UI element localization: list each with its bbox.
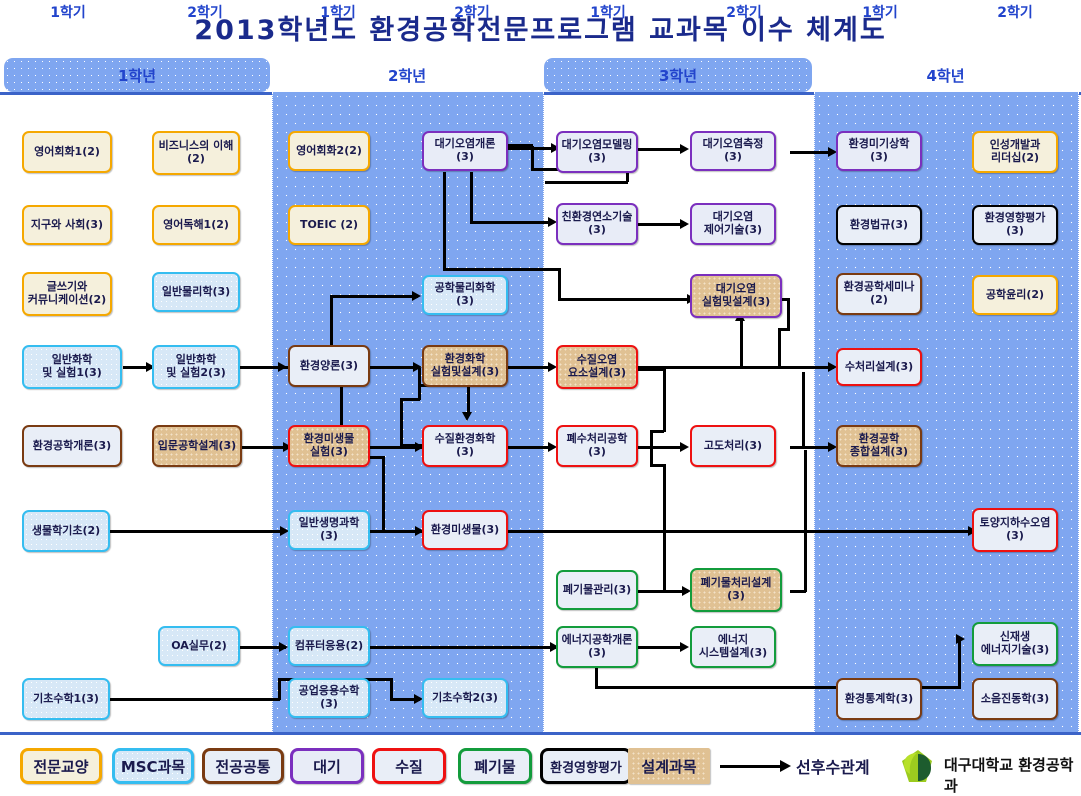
course-box[interactable]: 신재생에너지기술(3) [972,622,1058,666]
course-label: 공학물리화학(3) [426,282,504,307]
legend-item-common[interactable]: 전공공통 [202,748,284,784]
course-label: 일반생명과학(3) [292,517,366,542]
course-label: 대기오염모델링(3) [560,139,634,164]
course-label: 일반화학및 실험2(3) [156,354,236,379]
course-label: 환경공학세미나(2) [840,281,918,306]
course-box[interactable]: 비즈니스의 이해(2) [152,131,240,175]
course-label: 일반물리학(3) [156,286,236,299]
legend-item-air[interactable]: 대기 [290,748,364,784]
course-box[interactable]: 글쓰기와커뮤니케이션(2) [22,272,112,316]
course-box[interactable]: 수질환경화학(3) [422,425,508,467]
course-box[interactable]: 인성개발과리더십(2) [972,131,1058,173]
course-label: 생물학기초(2) [26,525,106,538]
course-label: 폐기물처리설계(3) [694,577,778,602]
course-box[interactable]: 폐기물처리설계(3) [690,568,782,612]
course-box[interactable]: 폐수처리공학(3) [556,425,638,467]
course-label: 영어회화1(2) [26,146,108,159]
course-box[interactable]: 공학윤리(2) [972,275,1058,315]
course-box[interactable]: 수처리설계(3) [836,348,922,386]
year-band-4: 4학년 [814,58,1077,92]
course-label: OA실무(2) [162,640,236,653]
semester-label-8: 2학기 [955,0,1075,26]
curriculum-flowchart: 2013학년도 환경공학전문프로그램 교과목 이수 체계도 1학년 2학년 3학… [0,0,1081,794]
course-box[interactable]: OA실무(2) [158,626,240,666]
course-box[interactable]: 환경양론(3) [288,345,370,387]
legend-arrow-line [720,765,782,768]
course-box[interactable]: 지구와 사회(3) [22,205,112,245]
semester-label-5: 1학기 [548,0,668,26]
year-band-2-label: 2학년 [388,65,426,86]
course-box[interactable]: 환경화학실험및설계(3) [422,345,508,387]
course-label: 기초수학1(3) [26,693,106,706]
course-label: 지구와 사회(3) [26,219,108,232]
course-box[interactable]: 토양지하수오염(3) [972,508,1058,552]
course-label: 환경미생물(3) [426,524,504,537]
course-label: 환경공학개론(3) [26,440,118,453]
course-label: 신재생에너지기술(3) [976,631,1054,656]
course-label: 환경통계학(3) [840,693,918,706]
legend-label: 설계과목 [641,756,696,777]
course-box[interactable]: 환경공학개론(3) [22,425,122,467]
course-label: 대기오염제어기술(3) [694,211,772,236]
legend-label: 전공공통 [215,756,270,777]
course-label: 수처리설계(3) [840,361,918,374]
course-label: 환경법규(3) [840,219,918,232]
course-box[interactable]: 공학물리화학(3) [422,275,508,315]
course-box[interactable]: 수질오염요소설계(3) [556,345,638,389]
course-label: 대기오염측정(3) [694,138,772,163]
course-box[interactable]: 영어회화2(2) [288,131,370,171]
course-label: 에너지공학개론(3) [560,634,634,659]
course-label: 영어회화2(2) [292,145,366,158]
course-box[interactable]: 환경미생물(3) [422,510,508,550]
course-label: 에너지시스템설계(3) [694,634,772,659]
semester-label-7: 1학기 [820,0,940,26]
course-box[interactable]: 생물학기초(2) [22,510,110,552]
course-box[interactable]: 친환경연소기술(3) [556,203,638,245]
course-label: 비즈니스의 이해(2) [156,140,236,165]
legend: 전문교양 MSC과목 전공공통 대기 수질 폐기물 환경영향평가 설계과목 선후… [0,738,1081,794]
course-label: 일반화학및 실험1(3) [26,354,118,379]
course-box[interactable]: 일반화학및 실험1(3) [22,345,122,389]
university-logo-icon [898,748,938,786]
semester-label-6: 2학기 [684,0,804,26]
legend-label: 수질 [395,756,423,777]
course-label: 친환경연소기술(3) [560,211,634,236]
course-box[interactable]: 환경미생물실험(3) [288,425,370,467]
course-box[interactable]: 에너지시스템설계(3) [690,626,776,668]
course-box[interactable]: 대기오염개론(3) [422,131,508,171]
course-label: 컴퓨터응용(2) [292,640,366,653]
course-box[interactable]: 일반생명과학(3) [288,510,370,550]
legend-label: 폐기물 [474,756,515,777]
course-box[interactable]: 기초수학1(3) [22,678,110,720]
course-box[interactable]: 환경통계학(3) [836,678,922,720]
course-box[interactable]: 대기오염제어기술(3) [690,203,776,245]
semester-label-4: 2학기 [412,0,532,26]
divider-bottom [0,732,1081,735]
course-box[interactable]: TOEIC (2) [288,205,370,245]
year-band-1: 1학년 [4,58,270,92]
course-label: 입문공학설계(3) [156,440,238,453]
course-box[interactable]: 공업응용수학(3) [288,678,370,718]
course-label: 환경미생물실험(3) [292,433,366,458]
course-box[interactable]: 대기오염모델링(3) [556,131,638,173]
course-label: TOEIC (2) [292,219,366,232]
course-label: 폐수처리공학(3) [560,433,634,458]
course-label: 대기오염개론(3) [426,138,504,163]
semester-label-2: 2학기 [145,0,265,26]
course-box[interactable]: 영어독해1(2) [152,205,240,245]
legend-arrow-head [780,760,791,772]
course-label: 고도처리(3) [694,440,772,453]
year-band-2: 2학년 [272,58,542,92]
course-label: 기초수학2(3) [426,692,504,705]
legend-label: 전문교양 [33,756,88,777]
course-label: 영어독해1(2) [156,219,236,232]
course-box[interactable]: 환경영향평가(3) [972,205,1058,245]
course-label: 수질환경화학(3) [426,433,504,458]
course-label: 인성개발과리더십(2) [976,139,1054,164]
course-box[interactable]: 영어회화1(2) [22,131,112,173]
course-box[interactable]: 소음진동학(3) [972,678,1058,720]
legend-label: MSC과목 [121,756,185,777]
course-box[interactable]: 일반물리학(3) [152,272,240,312]
course-box[interactable]: 대기오염실험및설계(3) [690,274,782,318]
course-box[interactable]: 환경미기상학(3) [836,131,922,171]
year-band-3: 3학년 [544,58,812,92]
legend-item-design[interactable]: 설계과목 [628,748,710,784]
course-label: 토양지하수오염(3) [976,517,1054,542]
course-label: 환경양론(3) [292,360,366,373]
course-label: 폐기물관리(3) [560,584,634,597]
course-box[interactable]: 폐기물관리(3) [556,570,638,610]
course-box[interactable]: 대기오염측정(3) [690,131,776,171]
semester-label-3: 1학기 [278,0,398,26]
course-label: 환경미기상학(3) [840,138,918,163]
legend-item-water[interactable]: 수질 [372,748,446,784]
course-label: 환경공학종합설계(3) [840,433,918,458]
legend-item-waste[interactable]: 폐기물 [458,748,532,784]
course-box[interactable]: 환경법규(3) [836,205,922,245]
course-label: 글쓰기와커뮤니케이션(2) [26,281,108,306]
course-box[interactable]: 환경공학세미나(2) [836,273,922,315]
course-label: 대기오염실험및설계(3) [694,283,778,308]
year-band-1-label: 1학년 [118,65,156,86]
legend-label: 환경영향평가 [550,757,622,776]
year-band-3-label: 3학년 [659,65,697,86]
legend-item-gyoyang[interactable]: 전문교양 [20,748,102,784]
legend-arrow-label: 선후수관계 [796,754,870,778]
course-box[interactable]: 에너지공학개론(3) [556,626,638,668]
course-box[interactable]: 환경공학종합설계(3) [836,425,922,467]
legend-label: 대기 [313,756,341,777]
course-box[interactable]: 입문공학설계(3) [152,425,242,467]
course-label: 공업응용수학(3) [292,685,366,710]
course-label: 수질오염요소설계(3) [560,354,634,379]
course-box[interactable]: 일반화학및 실험2(3) [152,345,240,389]
course-label: 환경화학실험및설계(3) [426,353,504,378]
university-name: 대구대학교 환경공학과 [944,754,1081,796]
course-box[interactable]: 컴퓨터응용(2) [288,626,370,666]
legend-item-eia[interactable]: 환경영향평가 [540,748,632,784]
legend-item-msc[interactable]: MSC과목 [112,748,194,784]
course-label: 환경영향평가(3) [976,212,1054,237]
course-label: 소음진동학(3) [976,693,1054,706]
semester-label-1: 1학기 [8,0,128,26]
course-box[interactable]: 고도처리(3) [690,425,776,467]
course-box[interactable]: 기초수학2(3) [422,678,508,718]
year-band-4-label: 4학년 [926,65,964,86]
course-label: 공학윤리(2) [976,289,1054,302]
